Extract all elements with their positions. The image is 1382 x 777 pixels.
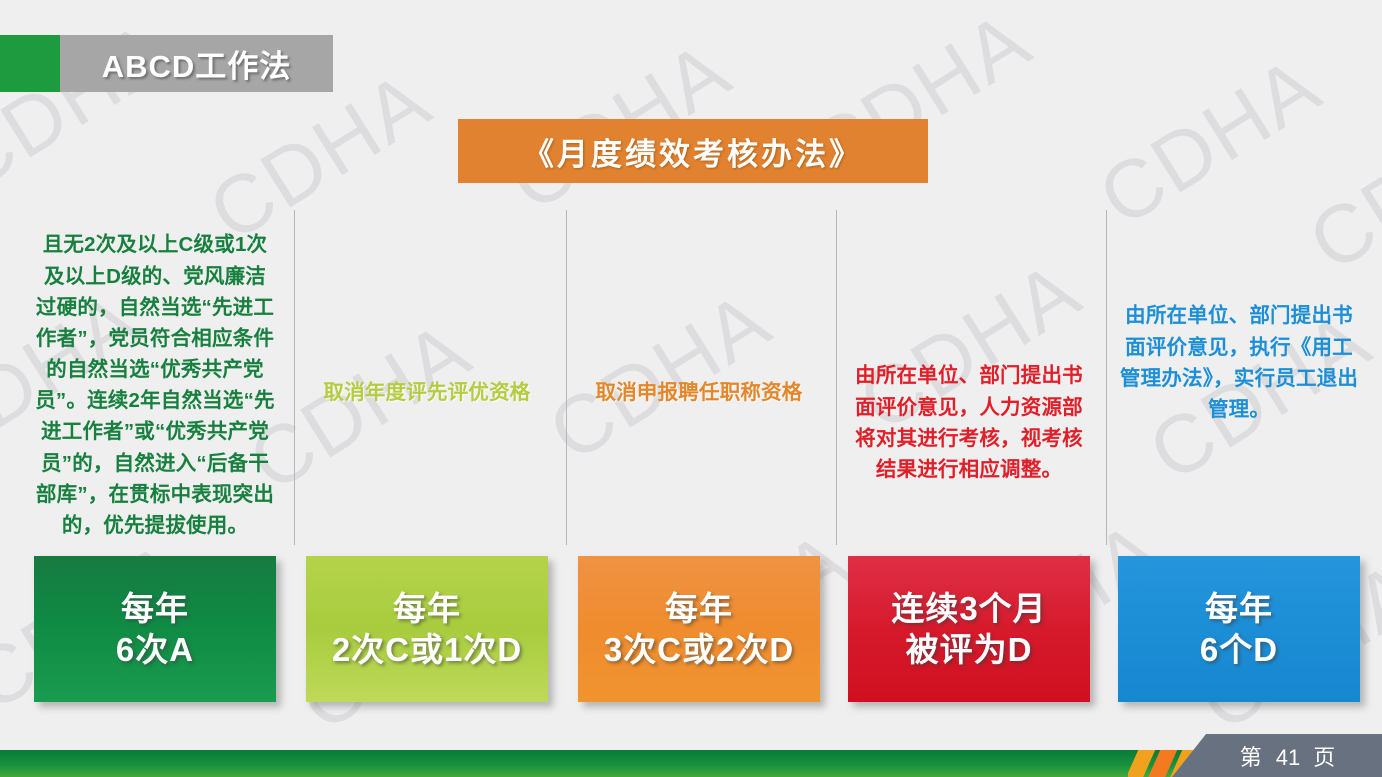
criteria-box-1[interactable]: 每年 6次A [34,556,276,702]
page-label-suffix: 页 [1313,740,1336,772]
page-number-panel: 第 41 页 [1172,734,1382,777]
column-5-text: 由所在单位、部门提出书面评价意见，执行《用工管理办法》，实行员工退出管理。 [1118,300,1360,545]
criteria-box-4-line2: 被评为D [906,629,1033,670]
page-number: 41 [1276,745,1300,771]
column-5: 由所在单位、部门提出书面评价意见，执行《用工管理办法》，实行员工退出管理。 [1118,200,1360,545]
criteria-box-5[interactable]: 每年 6个D [1118,556,1360,702]
page-label-prefix: 第 [1240,740,1263,772]
column-divider [836,210,837,545]
criteria-box-2-line2: 2次C或1次D [332,629,522,670]
criteria-box-3-line1: 每年 [665,588,733,629]
criteria-boxes: 每年 6次A 每年 2次C或1次D 每年 3次C或2次D 连续3个月 被评为D … [0,556,1382,706]
criteria-box-4[interactable]: 连续3个月 被评为D [848,556,1090,702]
column-divider [1106,210,1107,545]
criteria-box-4-line1: 连续3个月 [891,588,1046,629]
column-2-text: 取消年度评先评优资格 [306,377,548,545]
page-number-group: 第 41 页 [1218,740,1337,772]
columns-area: 且无2次及以上C级或1次及以上D级的、党风廉洁过硬的，自然当选“先进工作者”，党… [0,200,1382,545]
criteria-box-3-line2: 3次C或2次D [604,629,794,670]
column-3: 取消申报聘任职称资格 [578,200,820,545]
column-4-text: 由所在单位、部门提出书面评价意见，人力资源部将对其进行考核，视考核结果进行相应调… [848,360,1090,545]
criteria-box-2-line1: 每年 [393,588,461,629]
footer-bar [0,750,1382,777]
column-2: 取消年度评先评优资格 [306,200,548,545]
column-1: 且无2次及以上C级或1次及以上D级的、党风廉洁过硬的，自然当选“先进工作者”，党… [34,200,276,545]
column-divider [294,210,295,545]
column-4: 由所在单位、部门提出书面评价意见，人力资源部将对其进行考核，视考核结果进行相应调… [848,200,1090,545]
criteria-box-2[interactable]: 每年 2次C或1次D [306,556,548,702]
header-title-bar: ABCD工作法 [60,35,333,92]
document-title: 《月度绩效考核办法》 [523,129,863,174]
page-title: ABCD工作法 [102,41,292,86]
criteria-box-3[interactable]: 每年 3次C或2次D [578,556,820,702]
column-divider [566,210,567,545]
criteria-box-5-line1: 每年 [1205,588,1273,629]
column-1-text: 且无2次及以上C级或1次及以上D级的、党风廉洁过硬的，自然当选“先进工作者”，党… [34,229,276,545]
header-accent-square [0,35,60,92]
document-title-banner: 《月度绩效考核办法》 [458,119,928,183]
slide-header: ABCD工作法 [0,35,333,92]
criteria-box-1-line2: 6次A [116,629,194,670]
slide: CDHA CDHA CDHA CDHA CDHA CDHA CDHA CDHA … [0,0,1382,777]
criteria-box-5-line2: 6个D [1200,629,1278,670]
column-3-text: 取消申报聘任职称资格 [578,377,820,545]
criteria-box-1-line1: 每年 [121,588,189,629]
